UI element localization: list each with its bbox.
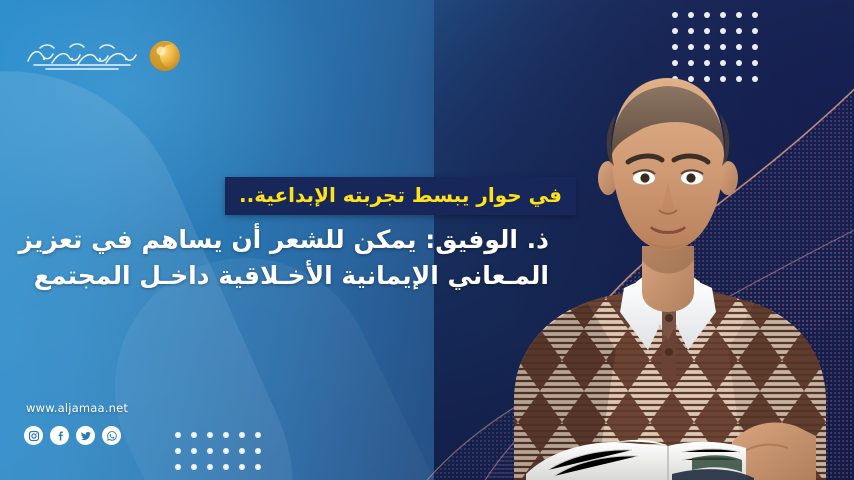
facebook-icon[interactable] [50,426,69,445]
golden-crescent-moon-icon [148,39,182,73]
headline-line-2: المـعاني الإيمانية الأخـلاقية داخـل المج… [29,258,549,294]
kicker-banner: في حوار يبسط تجربته الإبداعية.. [225,177,576,215]
whatsapp-icon[interactable] [102,426,121,445]
arabic-calligraphy-logo-icon [22,39,142,73]
headline-line-1: ذ. الوفيق: يمكن للشعر أن يساهم في تعزيز [29,222,549,258]
twitter-icon[interactable] [76,426,95,445]
poster-canvas: في حوار يبسط تجربته الإبداعية.. ذ. الوفي… [0,0,854,480]
instagram-icon[interactable] [24,426,43,445]
dot-grid-bottom-left [175,432,261,480]
brand-logo[interactable] [22,36,182,76]
social-links [24,426,121,445]
website-url[interactable]: www.aljamaa.net [26,401,128,415]
headline: ذ. الوفيق: يمكن للشعر أن يساهم في تعزيز … [29,222,549,293]
